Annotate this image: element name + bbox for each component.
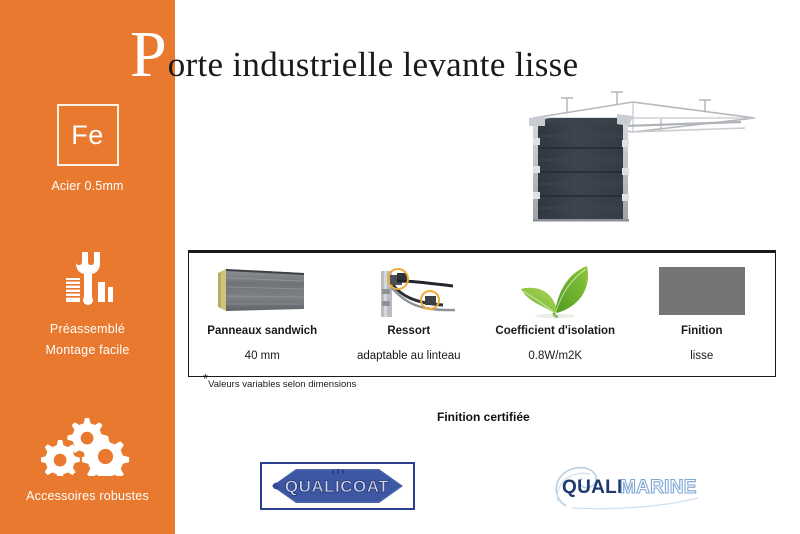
gears-icon	[0, 415, 175, 477]
sidebar-item-acier: Fe Acier 0.5mm	[0, 104, 175, 197]
fe-square-icon: Fe	[57, 104, 119, 166]
feature-panneaux-sandwich-title: Panneaux sandwich	[207, 325, 317, 337]
sidebar-item-acier-label: Acier 0.5mm	[0, 176, 175, 197]
svg-text:MARINE: MARINE	[620, 477, 697, 498]
sidebar-item-accessoires: Accessoires robustes	[0, 415, 175, 507]
qualimarine-logo: QUALI MARINE	[548, 462, 713, 510]
svg-text:QUALICOAT: QUALICOAT	[285, 477, 389, 496]
grey-color-swatch	[659, 259, 745, 323]
svg-text:QUALI: QUALI	[562, 477, 623, 498]
sandwich-panel-image	[210, 259, 314, 323]
certification-heading: Finition certifiée	[437, 410, 530, 424]
sidebar-item-preassemble: Préassemblé Montage facile	[0, 248, 175, 361]
feature-coefficient-isolation: Coefficient d'isolation 0.8W/m2K	[482, 253, 629, 376]
feature-panneaux-sandwich: Panneaux sandwich 40 mm	[189, 253, 336, 376]
qualicoat-logo: QUALICOAT	[260, 462, 415, 510]
poster-root: Fe Acier 0.5mm	[0, 0, 800, 534]
fe-symbol-text: Fe	[71, 120, 104, 151]
sidebar-item-preassemble-label-1: Préassemblé	[0, 319, 175, 340]
footnote: *Valeurs variables selon dimensions	[203, 379, 356, 390]
green-leaf-icon	[507, 259, 603, 323]
feature-finition-sub: lisse	[690, 350, 713, 362]
feature-ressort-sub: adaptable au linteau	[357, 350, 461, 362]
feature-finition: Finition lisse	[629, 253, 776, 376]
page-title-rest: orte industrielle levante lisse	[168, 47, 579, 82]
wrench-bolts-icon	[0, 248, 175, 310]
feature-coefficient-isolation-title: Coefficient d'isolation	[495, 325, 615, 337]
industrial-sectional-door-image	[505, 88, 775, 228]
feature-ressort: Ressort adaptable au linteau	[336, 253, 483, 376]
features-panel: Panneaux sandwich 40 mm	[188, 250, 776, 377]
sidebar-item-accessoires-label: Accessoires robustes	[0, 486, 175, 507]
feature-finition-title: Finition	[681, 325, 723, 337]
feature-panneaux-sandwich-sub: 40 mm	[245, 350, 280, 362]
spring-mechanism-image	[357, 259, 461, 323]
footnote-text: Valeurs variables selon dimensions	[208, 379, 356, 390]
feature-ressort-title: Ressort	[387, 325, 430, 337]
sidebar-item-preassemble-label-2: Montage facile	[0, 340, 175, 361]
finition-swatch-fill	[659, 267, 745, 315]
page-title: P orte industrielle levante lisse	[130, 22, 578, 88]
page-title-initial: P	[130, 22, 167, 88]
feature-coefficient-isolation-sub: 0.8W/m2K	[528, 350, 582, 362]
